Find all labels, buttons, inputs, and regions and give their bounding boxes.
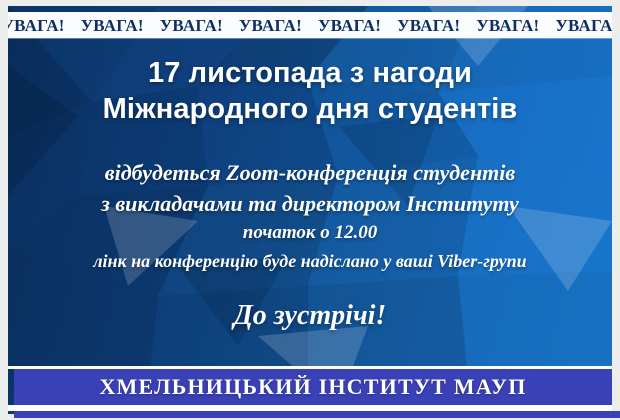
attention-word: УВАГА! [8,17,65,34]
attention-word: УВАГА! [476,17,539,34]
attention-word: УВАГА! [555,17,612,34]
attention-word: УВАГА! [160,17,223,34]
attention-banner: УВАГА! УВАГА! УВАГА! УВАГА! УВАГА! УВАГА… [8,12,612,38]
footer-institute-banner: ХМЕЛЬНИЦЬКИЙ ІНСТИТУТ МАУП [14,369,612,405]
headline-line-2: Міжнародного дня студентів [8,92,612,128]
attention-banner-words: УВАГА! УВАГА! УВАГА! УВАГА! УВАГА! УВАГА… [8,17,612,34]
body-line-link-info: лінк на конференцію буде надіслано у ваш… [8,248,612,274]
footer-bottom-strip [14,411,620,418]
body-line-start-time: початок о 12.00 [8,219,612,248]
attention-word: УВАГА! [318,17,381,34]
attention-word: УВАГА! [397,17,460,34]
body-line-1: відбудеться Zoom-конференція студентів [8,157,612,188]
poster-body: відбудеться Zoom-конференція студентів з… [8,157,612,274]
body-line-2: з викладачами та директором Інституту [8,188,612,219]
footer-institute-label: ХМЕЛЬНИЦЬКИЙ ІНСТИТУТ МАУП [99,374,526,400]
closing-line: До зустрічі! [8,299,612,333]
attention-word: УВАГА! [239,17,302,34]
announcement-poster: УВАГА! УВАГА! УВАГА! УВАГА! УВАГА! УВАГА… [0,0,620,420]
poster-headline: 17 листопада з нагоди Міжнародного дня с… [8,56,612,127]
headline-line-1: 17 листопада з нагоди [8,56,612,92]
attention-word: УВАГА! [81,17,144,34]
